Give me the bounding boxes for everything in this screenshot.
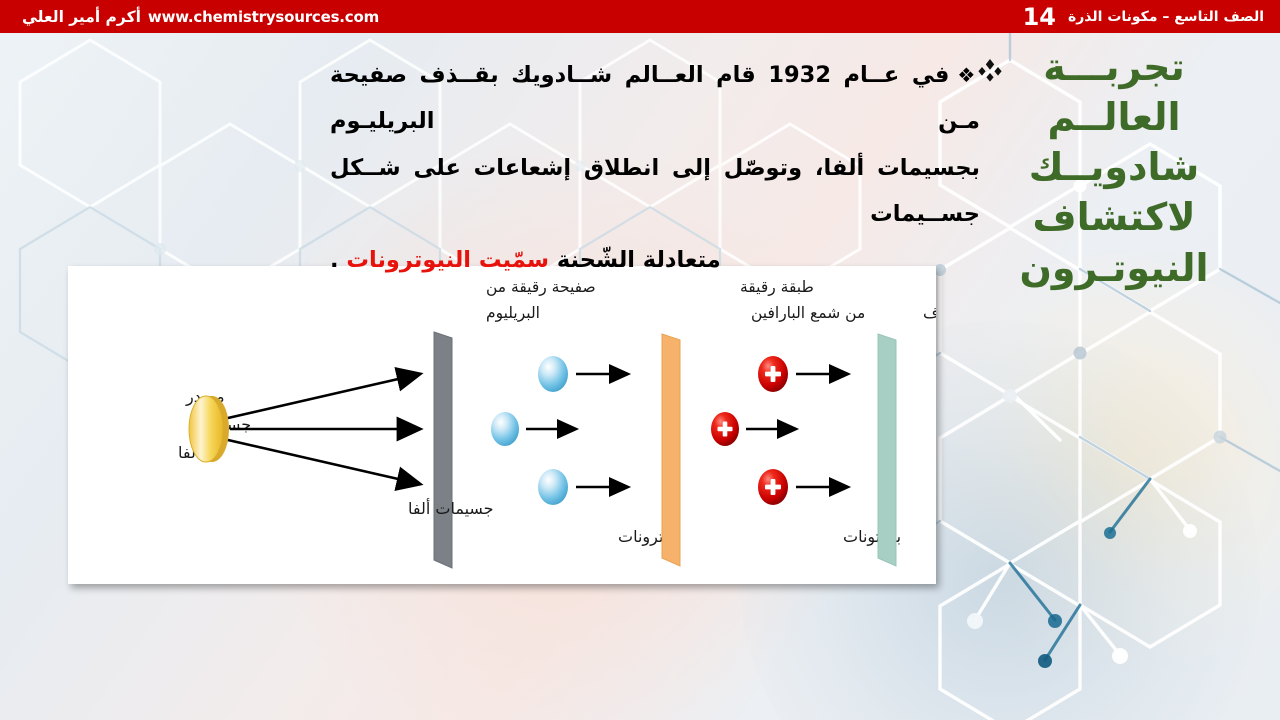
- proton-bottom: [758, 469, 848, 505]
- background-warm-glow-right: [920, 250, 1280, 670]
- author-name: أكرم أمير العلي: [22, 8, 141, 26]
- detector-plate: [878, 334, 896, 566]
- label-alpha-particles: جسيمات ألفا: [408, 498, 494, 518]
- header-left-group: www.chemistrysources.com أكرم أمير العلي: [22, 0, 379, 33]
- body-line-1: ❖في عــام 1932 قام العــالم شــادويك بقـ…: [330, 52, 980, 145]
- site-url-link[interactable]: www.chemistrysources.com: [148, 8, 379, 26]
- body-line-3-black-a: متعادلة الشّحنة: [557, 247, 721, 273]
- alpha-source-disc: [189, 396, 229, 462]
- body-line-2: بجسيمات ألفا، وتوصّل إلى انطلاق إشعاعات …: [330, 145, 980, 238]
- title-line-5: النيوتـرون: [964, 243, 1264, 293]
- header-bar: www.chemistrysources.com أكرم أمير العلي…: [0, 0, 1280, 33]
- slide-canvas: www.chemistrysources.com أكرم أمير العلي…: [0, 0, 1280, 720]
- experiment-diagram-card: صفيحة رقيقة من البريليوم طبقة رقيقة من ش…: [68, 266, 936, 584]
- proton-middle: [711, 412, 796, 446]
- title-line-3: شادويــك: [964, 142, 1264, 192]
- body-line-1-text: في عــام 1932 قام العــالم شــادويك بقــ…: [330, 62, 980, 134]
- header-right-group: الصف التاسع – مكونات الذرة 14: [1023, 0, 1264, 33]
- label-paraffin-line2: من شمع البارافين: [751, 304, 865, 323]
- page-number: 14: [1023, 5, 1056, 29]
- title-line-1: تجربـــة: [964, 42, 1264, 92]
- body-line-3-black-b: .: [330, 247, 339, 273]
- beryllium-plate: [434, 332, 452, 568]
- neutron-group: [491, 356, 628, 505]
- breadcrumb: الصف التاسع – مكونات الذرة: [1068, 9, 1264, 25]
- slide-title: تجربـــة العالــم شادويــك لاكتشاف النيو…: [964, 42, 1264, 293]
- title-line-4: لاكتشاف: [964, 192, 1264, 242]
- proton-group: [711, 356, 848, 505]
- paraffin-plate: [662, 334, 680, 566]
- proton-top: [758, 356, 848, 392]
- title-line-2: العالــم: [964, 92, 1264, 142]
- body-line-3-highlight: سمّيت النيوترونات: [346, 247, 549, 273]
- chadwick-experiment-diagram: صفيحة رقيقة من البريليوم طبقة رقيقة من ش…: [68, 266, 936, 584]
- label-detector: مكشاف: [923, 304, 936, 322]
- body-paragraph: ❖في عــام 1932 قام العــالم شــادويك بقـ…: [330, 52, 980, 284]
- label-beryllium-line2: البريليوم: [486, 304, 540, 322]
- body-line-2-text: بجسيمات ألفا، وتوصّل إلى انطلاق إشعاعات …: [330, 155, 980, 227]
- body-line-3: متعادلة الشّحنة سمّيت النيوترونات .: [330, 237, 980, 283]
- paragraph-bullet-icon: ❖: [949, 63, 980, 87]
- diamond-bullet-icon: [977, 58, 1003, 84]
- alpha-ray-arrows: [228, 374, 420, 484]
